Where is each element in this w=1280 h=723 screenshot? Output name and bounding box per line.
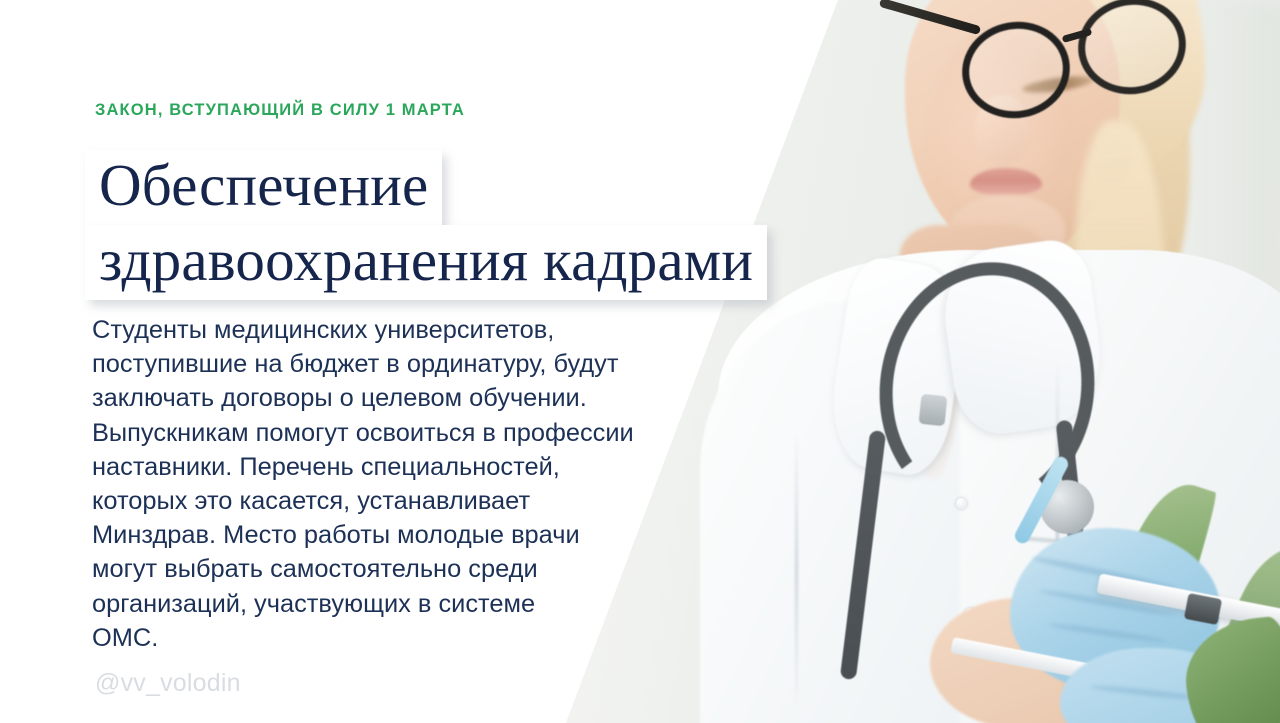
lips (970, 168, 1042, 196)
eyebrow-label: ЗАКОН, ВСТУПАЮЩИЙ В СИЛУ 1 МАРТА (95, 101, 465, 120)
stethoscope-clip (919, 394, 948, 427)
headline-box-line1: Обеспечение (85, 150, 442, 225)
account-handle: @vv_volodin (95, 669, 241, 698)
headline-line-2: здравоохранения кадрами (99, 227, 753, 293)
lab-coat-seam-left (795, 430, 798, 710)
headline-line-1: Обеспечение (99, 152, 428, 218)
slide-root: ЗАКОН, ВСТУПАЮЩИЙ В СИЛУ 1 МАРТА Обеспеч… (0, 0, 1280, 723)
page-title: Обеспечение здравоохранения кадрами (85, 150, 767, 300)
headline-box-line2: здравоохранения кадрами (85, 225, 767, 300)
body-paragraph: Студенты медицинских университетов, пост… (92, 313, 692, 655)
